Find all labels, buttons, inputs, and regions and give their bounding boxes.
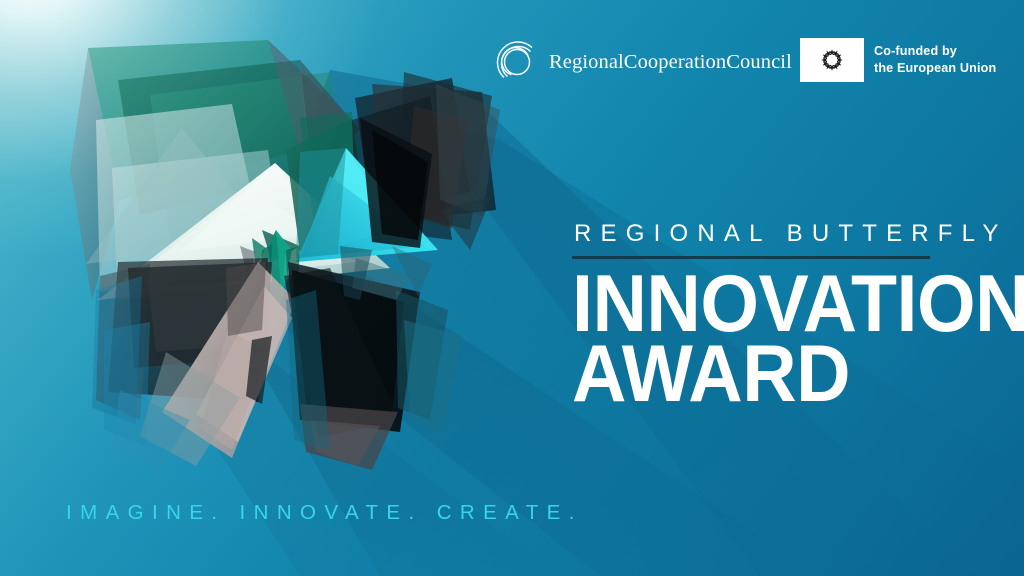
title-kicker: REGIONAL BUTTERFLY — [572, 222, 992, 246]
eu-cofunding-badge[interactable]: Co-funded by the European Union — [800, 38, 996, 82]
poster-canvas: RegionalCooperationCouncil — [0, 0, 1024, 576]
european-union-flag-icon — [800, 38, 864, 82]
eu-cofunding-text: Co-funded by the European Union — [874, 43, 996, 76]
eu-cofunding-line1: Co-funded by — [874, 44, 957, 58]
tagline: IMAGINE. INNOVATE. CREATE. — [66, 503, 583, 524]
eu-cofunding-line2: the European Union — [874, 61, 996, 75]
title-block: REGIONAL BUTTERFLY INNOVATION AWARD — [572, 222, 992, 409]
award-title-line2: AWARD — [572, 340, 963, 410]
award-title: INNOVATION AWARD — [572, 270, 963, 409]
rcc-spiral-circles-icon — [492, 38, 540, 86]
logo-row: RegionalCooperationCouncil — [0, 0, 1024, 110]
rcc-logo[interactable]: RegionalCooperationCouncil — [492, 38, 792, 86]
rcc-wordmark: RegionalCooperationCouncil — [549, 52, 792, 73]
